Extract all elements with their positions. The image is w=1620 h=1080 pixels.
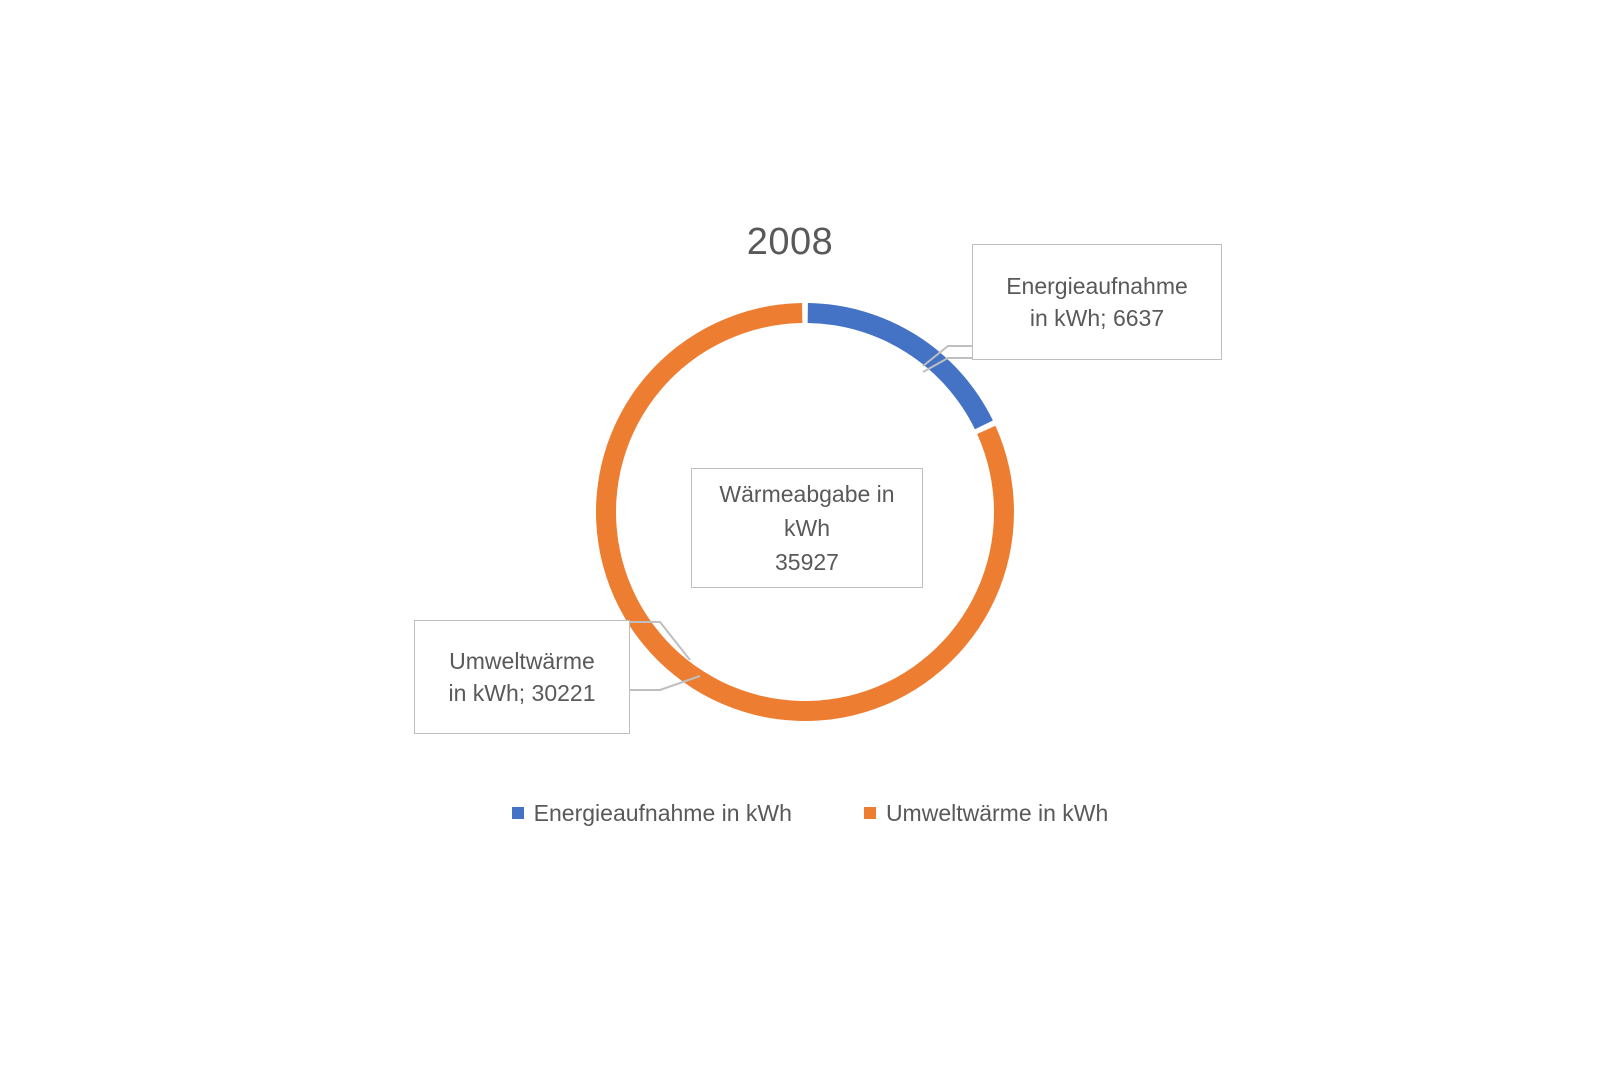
center-annotation-waermeabgabe[interactable]: Wärmeabgabe in kWh 35927	[691, 468, 923, 588]
legend-item-umweltwaerme[interactable]: Umweltwärme in kWh	[864, 798, 1108, 828]
leader-line-energieaufnahme-2	[923, 358, 974, 372]
leader-line-umweltwaerme-2	[628, 676, 700, 690]
data-label-umweltwaerme-line1: Umweltwärme	[449, 645, 595, 677]
chart-title: 2008	[620, 218, 960, 266]
leader-line-umweltwaerme	[628, 622, 690, 660]
center-annotation-line3: 35927	[775, 545, 839, 579]
legend-item-energieaufnahme[interactable]: Energieaufnahme in kWh	[512, 798, 792, 828]
chart-legend: Energieaufnahme in kWh Umweltwärme in kW…	[380, 798, 1240, 828]
legend-label-energieaufnahme: Energieaufnahme in kWh	[534, 798, 792, 828]
center-annotation-line2: kWh	[784, 511, 830, 545]
data-label-energieaufnahme-line1: Energieaufnahme	[1006, 270, 1188, 302]
data-label-energieaufnahme-line2: in kWh; 6637	[1030, 302, 1164, 334]
data-label-energieaufnahme[interactable]: Energieaufnahme in kWh; 6637	[972, 244, 1222, 360]
legend-swatch-icon-blue	[512, 807, 524, 819]
chart-canvas: 2008 Energieaufnahme in kWh; 6637 Umwelt…	[0, 0, 1620, 1080]
leader-line-energieaufnahme	[923, 346, 974, 366]
data-label-umweltwaerme[interactable]: Umweltwärme in kWh; 30221	[414, 620, 630, 734]
legend-label-umweltwaerme: Umweltwärme in kWh	[886, 798, 1108, 828]
data-label-umweltwaerme-line2: in kWh; 30221	[448, 677, 595, 709]
donut-slice-energieaufnahme[interactable]	[808, 303, 993, 429]
center-annotation-line1: Wärmeabgabe in	[719, 477, 894, 511]
legend-swatch-icon-orange	[864, 807, 876, 819]
